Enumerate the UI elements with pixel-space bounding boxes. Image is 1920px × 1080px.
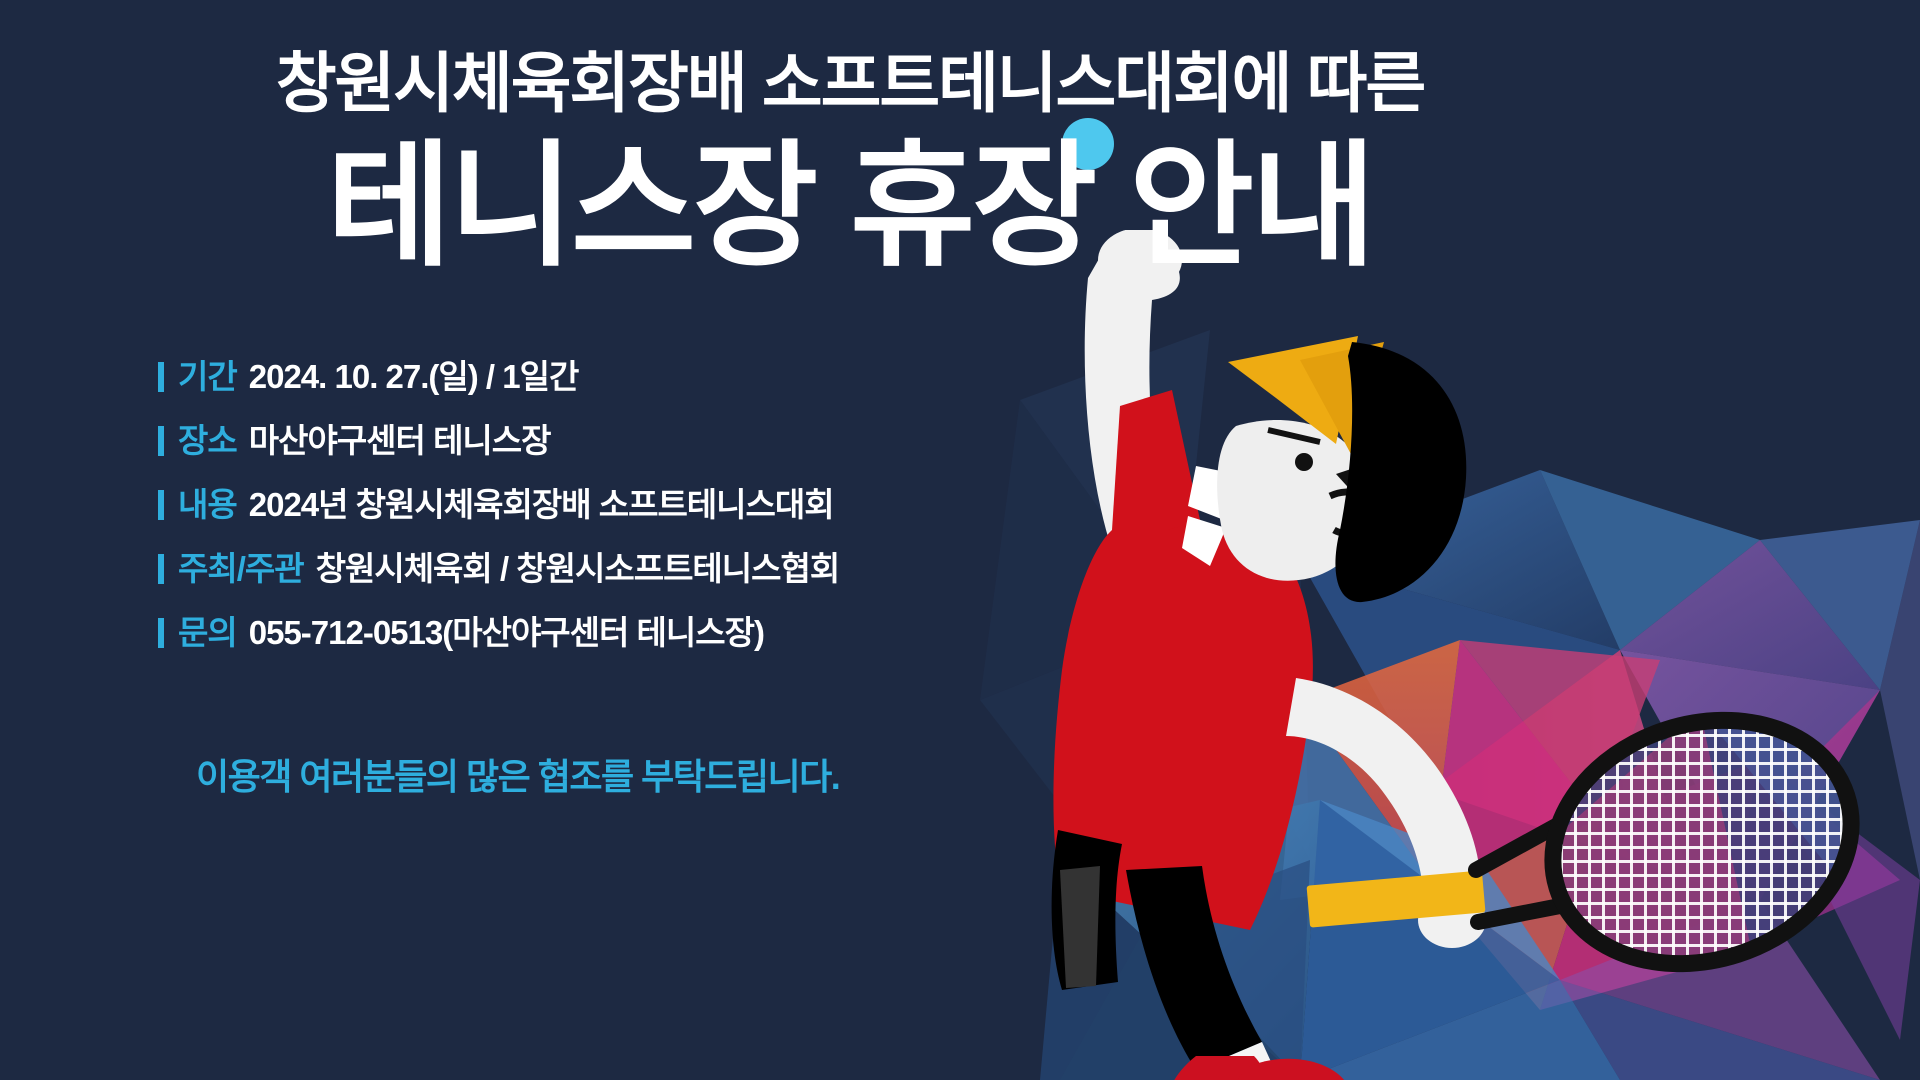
info-value: 2024년 창원시체육회장배 소프트테니스대회 [249, 478, 834, 526]
racket-strings [1540, 710, 1880, 990]
info-row-content: 내용 2024년 창원시체육회장배 소프트테니스대회 [158, 478, 839, 526]
info-label: 기간 [178, 350, 237, 398]
player-collar-b [1182, 516, 1226, 566]
player-face [1217, 420, 1369, 581]
player-leg-front [1126, 866, 1262, 1070]
info-row-contact: 문의 055-712-0513(마산야구센터 테니스장) [158, 606, 839, 654]
player-leg-shadow [1060, 866, 1100, 988]
player-cap-brim [1300, 342, 1384, 456]
player-shirt [1053, 520, 1312, 930]
player-right-arm [1286, 678, 1481, 910]
info-value: 055-712-0513(마산야구센터 테니스장) [249, 606, 764, 654]
bullet-bar-icon [158, 490, 164, 520]
bullet-bar-icon [158, 362, 164, 392]
player-leg-back [1052, 830, 1122, 990]
info-label: 내용 [178, 478, 237, 526]
info-row-period: 기간 2024. 10. 27.(일) / 1일간 [158, 350, 839, 398]
info-label: 장소 [178, 414, 237, 462]
player-cap [1228, 336, 1358, 444]
headline-subtitle: 창원시체육회장배 소프트테니스대회에 따른 [0, 46, 1700, 122]
racket-throat-upper [1476, 826, 1556, 870]
player-shoe-back [1167, 1056, 1266, 1080]
info-row-organizer: 주최/주관 창원시체육회 / 창원시소프트테니스협회 [158, 542, 839, 590]
racket-throat-lower [1478, 906, 1560, 922]
bullet-bar-icon [158, 618, 164, 648]
info-value: 2024. 10. 27.(일) / 1일간 [249, 350, 579, 398]
player-hair [1335, 342, 1466, 602]
player-eye [1295, 453, 1313, 471]
player-nose-shadow [1336, 462, 1372, 496]
racket-grip [1307, 870, 1486, 927]
player-right-hand [1418, 892, 1486, 948]
racket-frame [1521, 683, 1883, 1001]
info-value: 마산야구센터 테니스장 [249, 414, 551, 462]
poster-canvas: 창원시체육회장배 소프트테니스대회에 따른 테니스장 휴장 안내 [0, 0, 1920, 1080]
player-collar-a [1188, 466, 1236, 520]
bullet-bar-icon [158, 554, 164, 584]
info-label: 주최/주관 [178, 542, 304, 590]
bullet-bar-icon [158, 426, 164, 456]
info-list: 기간 2024. 10. 27.(일) / 1일간 장소 마산야구센터 테니스장… [158, 350, 839, 670]
player-raised-arm [1085, 245, 1180, 550]
info-row-venue: 장소 마산야구센터 테니스장 [158, 414, 839, 462]
player-sock [1196, 1042, 1282, 1080]
page-title: 테니스장 휴장 안내 [0, 126, 1700, 286]
info-value: 창원시체육회 / 창원시소프트테니스협회 [316, 542, 840, 590]
info-label: 문의 [178, 606, 237, 654]
player-shoe-front [1228, 1059, 1351, 1080]
headline-block: 창원시체육회장배 소프트테니스대회에 따른 테니스장 휴장 안내 [0, 46, 1700, 286]
footer-notice: 이용객 여러분들의 많은 협조를 부탁드립니다. [196, 748, 839, 800]
player-brow [1268, 430, 1320, 442]
player-shoulder [1112, 390, 1200, 530]
player-mouth [1330, 492, 1366, 533]
tennis-player-illustration [1000, 230, 1920, 1080]
